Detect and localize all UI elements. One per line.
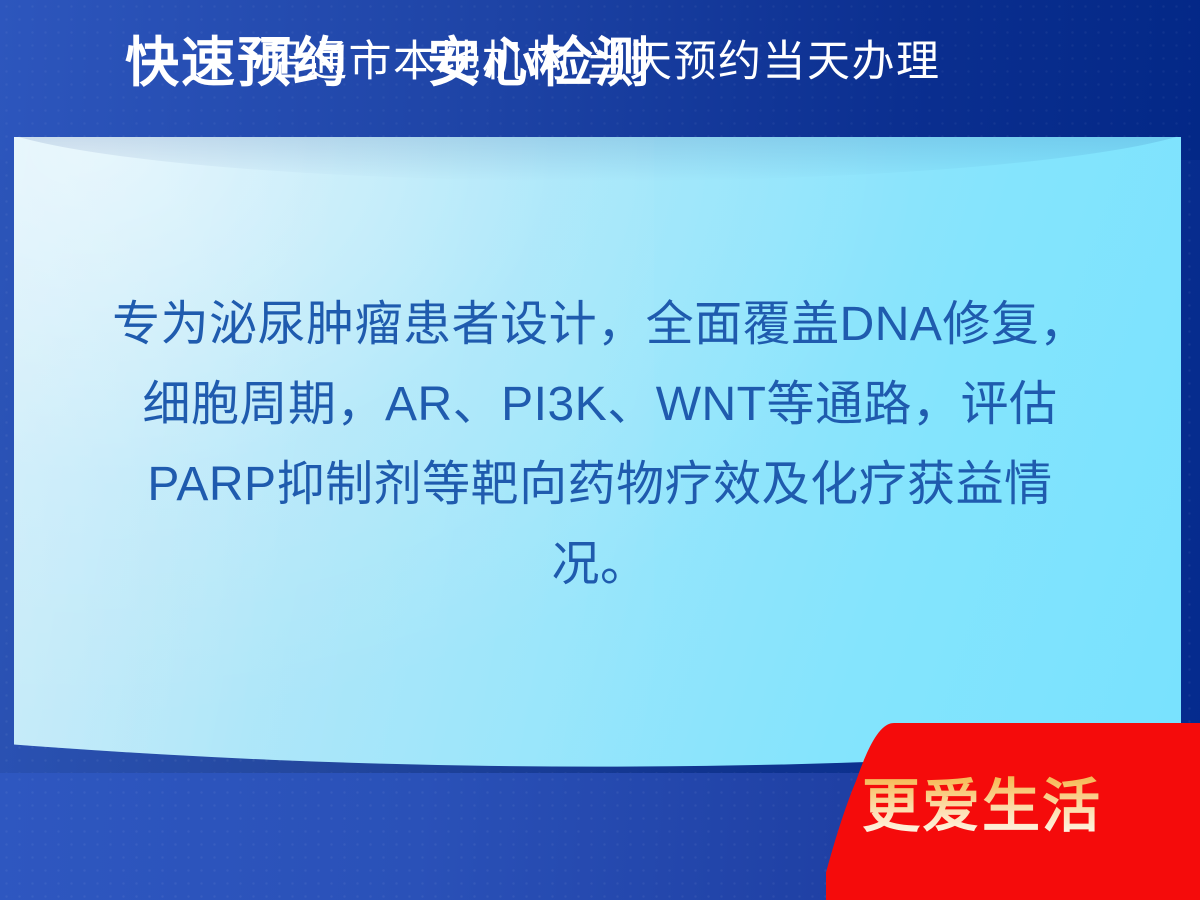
body-description: 专为泌尿肿瘤患者设计，全面覆盖DNA修复，细胞周期，AR、PI3K、WNT等通路…	[108, 285, 1092, 605]
poster-root: 昭通市本地机构 当天预约当天办理 专为泌尿肿瘤患者设计，全面覆盖DNA修复，细胞…	[0, 0, 1200, 900]
footer-slogan-left: 快速预约	[125, 33, 349, 93]
footer-slogan: 快速预约 安心检测	[125, 22, 651, 104]
footer-slogan-right: 安心检测	[427, 33, 651, 93]
promo-badge-text: 更爱生活	[862, 763, 1192, 851]
promo-badge: 更爱生活	[826, 723, 1200, 900]
